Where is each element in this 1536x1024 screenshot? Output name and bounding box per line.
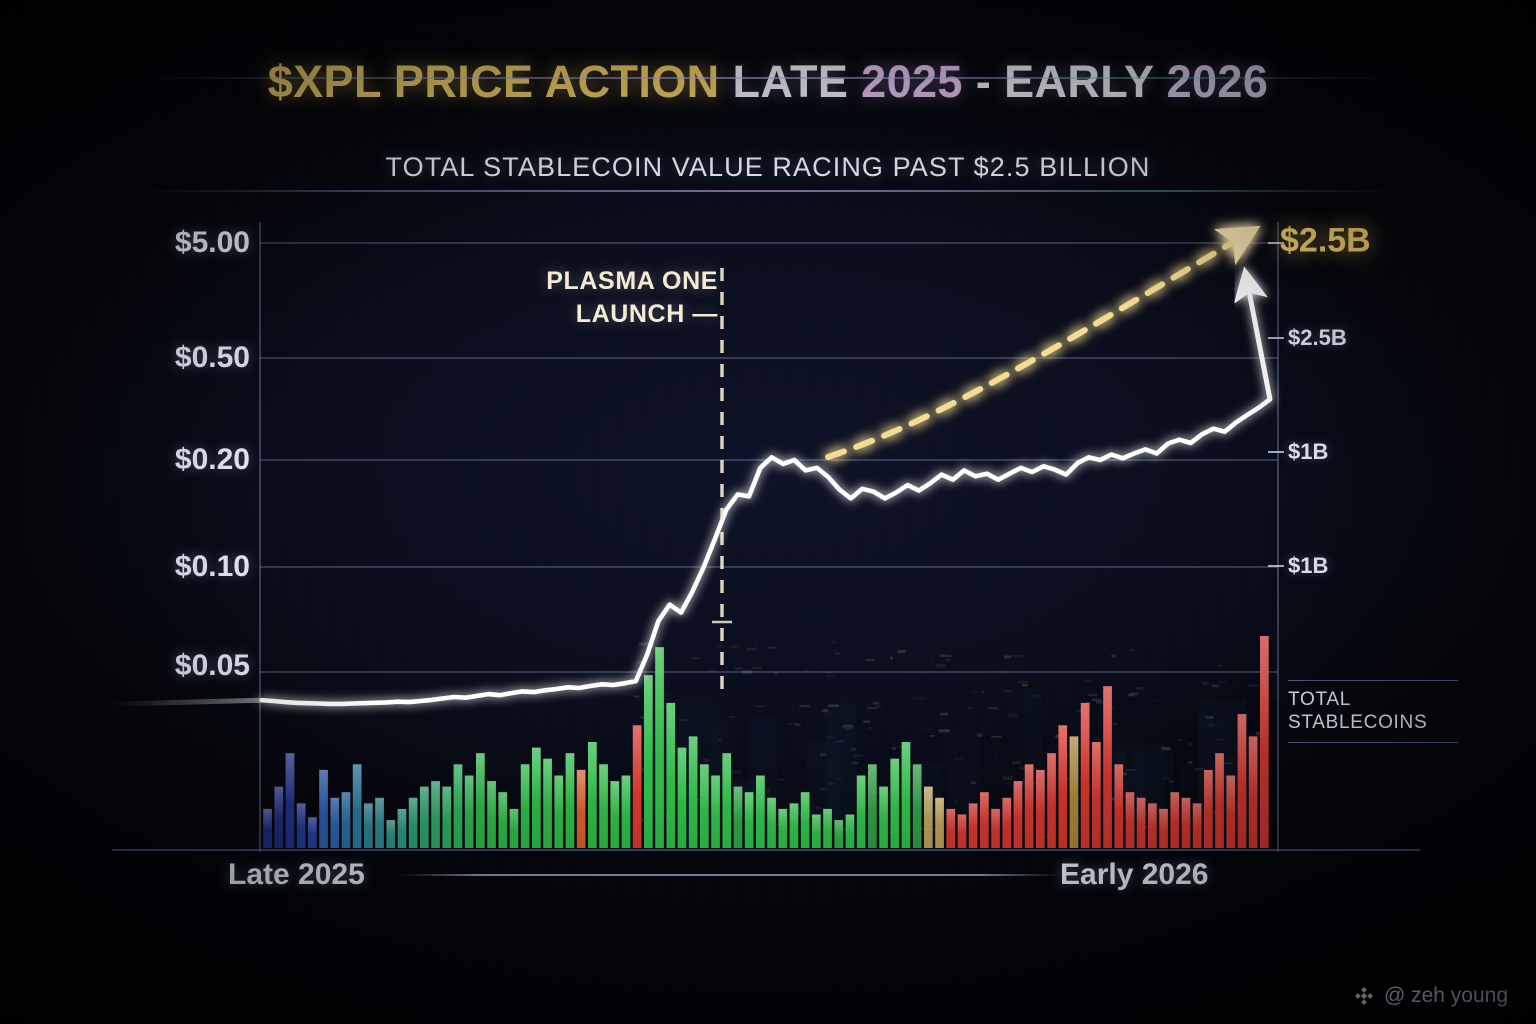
volume-bar-highlight [498,792,507,823]
city-light [1033,695,1040,697]
volume-bar-highlight [1002,798,1011,826]
volume-bar-highlight [969,803,978,828]
city-light [873,702,880,705]
city-light [828,705,838,708]
volume-bar-highlight [308,817,317,834]
city-light [805,670,810,672]
x-axis-connector [400,874,1060,876]
volume-bar-highlight [1126,792,1135,823]
city-light [769,647,777,649]
city-light [892,747,896,750]
city-light [977,735,981,737]
y-tick-label-5-00: $5.00 [140,226,250,260]
city-light [1188,761,1192,764]
city-light [799,705,809,707]
city-light [1096,701,1103,704]
volume-bar-highlight [1014,781,1023,818]
volume-bar-highlight [902,742,911,800]
volume-bar-highlight [319,770,328,813]
city-light [731,770,741,773]
volume-bar-highlight [946,809,955,831]
city-light [719,739,721,741]
volume-bar-highlight [678,748,687,803]
city-light [1224,763,1232,764]
city-light [988,707,998,709]
city-light [867,707,878,709]
city-light [955,679,960,681]
city-light [1003,776,1013,779]
watermark-handle: @ zeh young [1384,984,1508,1008]
city-light [1189,743,1192,746]
city-light [1154,700,1160,701]
launch-annotation: PLASMA ONE LAUNCH — [478,265,718,331]
city-light [971,782,976,785]
volume-bar-highlight [666,703,675,783]
city-light [822,709,828,712]
city-light [827,676,835,677]
volume-bar-highlight [1204,770,1213,813]
city-light [1095,739,1101,741]
volume-bar-highlight [801,792,810,823]
city-light [728,716,734,717]
city-light [829,782,836,784]
city-light [897,650,905,653]
city-light [994,753,997,755]
volume-bar-highlight [1058,725,1067,793]
volume-bar-highlight [700,764,709,810]
launch-annotation-line1: PLASMA ONE [478,265,718,298]
launch-annotation-line2: LAUNCH — [478,298,718,331]
city-light [1208,724,1213,727]
city-light [831,642,836,643]
city-light [930,735,935,737]
volume-bar-highlight [868,764,877,810]
city-light [735,667,743,670]
city-light [837,777,843,779]
city-light [826,736,835,738]
city-light [1212,685,1219,688]
city-light [930,657,933,659]
city-light [712,669,720,670]
city-light [1004,690,1012,692]
city-light [939,729,950,732]
volume-bar-highlight [1226,776,1235,816]
city-light [1089,666,1094,668]
price-line-tail [112,700,262,704]
volume-bar-highlight [1025,764,1034,810]
volume-bar-highlight [409,798,418,826]
y-tick-label-0-05: $0.05 [140,649,250,683]
volume-bar-highlight [846,815,855,833]
city-light [702,758,710,761]
city-light [845,697,850,698]
city-light [981,692,984,693]
city-light [865,659,874,661]
volume-bar-highlight [588,742,597,800]
city-light [622,694,632,695]
binance-diamond-icon [1353,985,1375,1007]
volume-bar-highlight [510,809,519,831]
city-light [639,643,649,646]
city-light [667,681,669,683]
volume-bar-highlight [711,776,720,816]
volume-bar-highlight [353,764,362,810]
city-light [845,728,851,730]
volume-bar-highlight [1081,703,1090,783]
city-light [624,667,626,668]
volume-bar-highlight [554,776,563,816]
volume-bar-highlight [577,770,586,813]
volume-bar-highlight [734,787,743,821]
city-light [796,723,801,726]
city-light [1111,654,1115,657]
volume-bar-highlight [767,798,776,826]
city-light [1202,682,1209,685]
volume-bar-highlight [756,776,765,816]
volume-bar-highlight [599,764,608,810]
city-light [1130,649,1134,651]
city-light [867,727,873,729]
city-light [946,659,951,661]
city-light [815,666,824,667]
city-light [679,719,687,721]
volume-bar-highlight [610,781,619,818]
city-light [664,695,671,696]
city-light [715,646,723,648]
volume-bar-highlight [521,764,530,810]
city-light [940,713,948,716]
city-light [1113,723,1118,724]
volume-bar-highlight [274,787,283,821]
volume-bar-highlight [454,764,463,810]
volume-bar-highlight [532,748,541,803]
city-light [820,788,826,790]
city-light [955,801,958,803]
y-tick-label-0-50: $0.50 [140,341,250,375]
legend-line2: STABLECOINS [1288,711,1458,734]
city-light [854,755,863,757]
city-light [1209,716,1213,718]
city-light [752,667,762,668]
city-light [863,720,870,723]
volume-bar-highlight [980,792,989,823]
city-light [1217,665,1222,666]
city-light [820,753,825,756]
city-light [1022,684,1028,686]
city-light [1214,739,1224,741]
city-light [1008,714,1012,715]
volume-bar-highlight [745,792,754,823]
city-light [1126,769,1136,771]
volume-bar-highlight [913,764,922,810]
volume-bar-highlight [330,798,339,826]
city-light [1125,789,1129,790]
city-light [1014,655,1024,656]
volume-bar-highlight [1159,809,1168,831]
city-light [1195,768,1205,770]
volume-bar-highlight [386,820,395,835]
city-light [755,642,758,645]
x-axis-label-end: Early 2026 [1060,858,1208,892]
city-light [1004,655,1012,658]
volume-bar-highlight [655,647,664,758]
volume-bar-highlight [543,759,552,808]
volume-bar-highlight [722,753,731,805]
volume-bar-highlight [342,792,351,823]
city-light [1034,782,1037,784]
x-axis-label-start: Late 2025 [228,858,365,892]
y-tick-label-0-10: $0.10 [140,550,250,584]
volume-bar-highlight [890,759,899,808]
city-light [835,653,840,654]
city-light [730,646,739,648]
city-light [755,706,766,707]
volume-bar-highlight [431,781,440,818]
city-light [890,656,893,659]
right-tick-label-2-5b: $2.5B [1288,325,1347,351]
city-light [691,658,700,659]
city-light [1128,694,1135,696]
city-light [835,740,844,742]
city-light [916,698,925,699]
volume-bar-highlight [1148,803,1157,828]
city-light [807,766,812,767]
volume-bar-highlight [1249,736,1258,797]
volume-bar-highlight [857,776,866,816]
volume-bar-highlight [1092,742,1101,800]
volume-bar-highlight [1182,798,1191,826]
volume-bar-highlight [1137,798,1146,826]
city-light [1136,687,1143,690]
volume-bar-highlight [1103,686,1112,775]
city-light [641,716,645,719]
volume-bar-highlight [991,809,1000,831]
city-light [843,725,853,728]
price-arrow [1248,286,1270,399]
city-light [816,807,822,809]
volume-bar-highlight [823,809,832,831]
legend-total-stablecoins: TOTAL STABLECOINS [1288,680,1458,743]
city-light [1218,681,1227,684]
city-light [1163,777,1170,780]
right-axis-ticks [1268,243,1284,566]
chart-canvas: $XPL PRICE ACTION LATE 2025 - EARLY 2026… [0,0,1536,1024]
y-tick-label-0-20: $0.20 [140,443,250,477]
city-light [972,692,978,694]
city-light [1161,747,1170,750]
volume-bar-highlight [1260,636,1269,753]
city-light [1029,711,1032,712]
volume-bar-highlight [834,820,843,835]
city-light [954,758,963,760]
volume-bar-highlight [364,803,373,828]
volume-bar-highlight [263,809,272,831]
volume-bar-highlight [1193,803,1202,828]
city-light [1084,679,1093,681]
volume-bar-highlight [790,803,799,828]
volume-bar-highlight [1070,736,1079,797]
city-light [940,655,951,657]
city-light [922,729,931,731]
volume-bar-highlight [297,803,306,828]
legend-line1: TOTAL [1288,688,1458,711]
volume-bar-highlight [1170,792,1179,823]
city-light [767,789,771,791]
right-tick-label-1b-a: $1B [1288,439,1328,465]
volume-bar-highlight [689,736,698,797]
volume-bar-highlight [398,809,407,831]
city-light [778,779,785,781]
city-light [634,696,640,698]
price-line [262,399,1270,704]
city-light [1169,781,1173,783]
volume-bar-highlight [476,753,485,805]
volume-bar-highlight [286,753,295,805]
volume-bar-highlight [1215,753,1224,805]
city-light [1249,684,1259,687]
volume-bar-highlight [1036,770,1045,813]
city-light [1012,761,1021,764]
volume-bar-highlight [812,815,821,833]
volume-bar-highlight [924,787,933,821]
volume-bar-highlight [375,798,384,826]
volume-bar-highlight [566,753,575,805]
volume-bar-highlight [644,675,653,770]
right-tick-label-1b-b: $1B [1288,553,1328,579]
volume-bar-highlight [420,787,429,821]
city-light [1178,739,1183,740]
city-light [937,664,946,667]
volume-bar-highlight [1114,764,1123,810]
city-light [1088,694,1098,696]
watermark: @ zeh young [1353,984,1508,1008]
projection-arrow [828,238,1240,457]
city-light [991,736,1001,738]
city-light [1018,681,1029,683]
volume-bar-highlight [487,781,496,818]
volume-bar-highlight [622,776,631,816]
volume-bar-highlight [1238,714,1247,788]
volume-bar-highlight [935,798,944,826]
volume-bar-highlight [442,787,451,821]
city-light [851,762,858,763]
volume-bar-highlight [879,787,888,821]
volume-bar-highlight [958,815,967,833]
target-callout-label: $2.5B [1280,222,1371,261]
city-light [968,707,974,709]
volume-bar-highlight [1047,753,1056,805]
city-light [850,748,856,750]
city-light [775,672,778,674]
volume-bar-highlight [633,725,642,793]
volume-bar-highlight [465,776,474,816]
volume-bar-highlight [778,809,787,831]
city-light [1218,726,1221,728]
city-light [746,648,756,650]
city-light [1005,782,1010,785]
